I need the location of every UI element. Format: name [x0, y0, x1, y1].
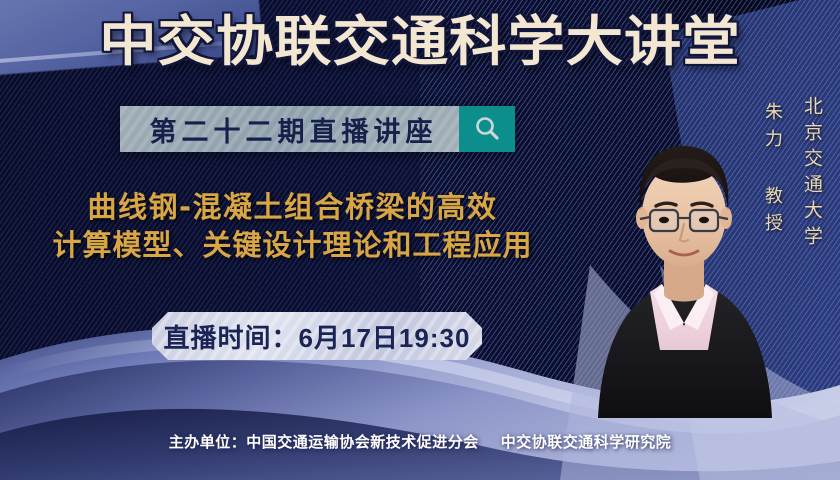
poster-canvas: 中交协联交通科学大讲堂 第二十二期直播讲座 曲线钢-混凝土组合桥梁的高效 计算模…	[0, 0, 840, 480]
broadcast-time-badge: 直播时间：6月17日19:30	[152, 312, 482, 360]
lecture-title-line2: 计算模型、关键设计理论和工程应用	[0, 226, 585, 264]
poster-headline: 中交协联交通科学大讲堂	[0, 12, 840, 72]
episode-bar: 第二十二期直播讲座	[120, 106, 515, 152]
footer-org1: 中国交通运输协会新技术促进分会	[246, 434, 479, 451]
footer-organizers: 主办单位：中国交通运输协会新技术促进分会中交协联交通科学研究院	[0, 431, 840, 452]
speaker-info: 朱力 教授 北京交通大学	[759, 96, 826, 252]
magnifier-icon[interactable]	[459, 106, 515, 152]
speaker-portrait	[596, 118, 772, 418]
lecture-title-line1: 曲线钢-混凝土组合桥梁的高效	[0, 188, 585, 226]
footer-org2: 中交协联交通科学研究院	[501, 434, 672, 451]
speaker-affiliation: 北京交通大学	[799, 96, 826, 252]
footer-prefix: 主办单位：	[169, 434, 247, 451]
episode-label: 第二十二期直播讲座	[120, 106, 459, 152]
speaker-name-title: 朱力 教授	[759, 96, 785, 240]
lecture-title: 曲线钢-混凝土组合桥梁的高效 计算模型、关键设计理论和工程应用	[0, 188, 585, 264]
